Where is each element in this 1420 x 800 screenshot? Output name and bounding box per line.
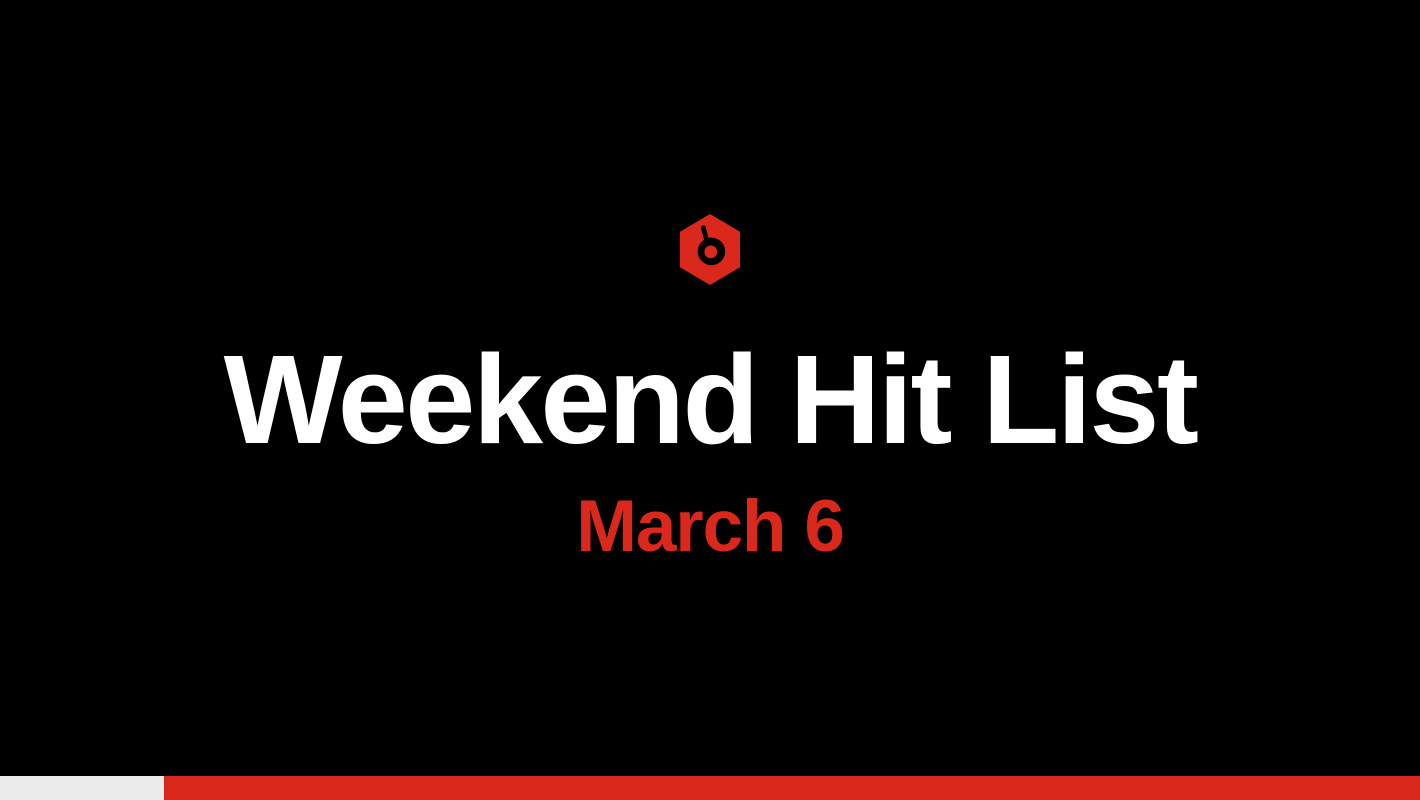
progress-bar[interactable] [0, 776, 1420, 800]
slide-date-subtitle: March 6 [576, 490, 844, 563]
progress-remaining-segment [164, 776, 1420, 800]
slide-content-stage: Weekend Hit List March 6 [0, 0, 1420, 776]
page-title: Weekend Hit List [224, 337, 1197, 463]
title-slide: Weekend Hit List March 6 [0, 0, 1420, 800]
beats-hexagon-logo [680, 214, 740, 285]
progress-elapsed-segment [0, 776, 164, 800]
